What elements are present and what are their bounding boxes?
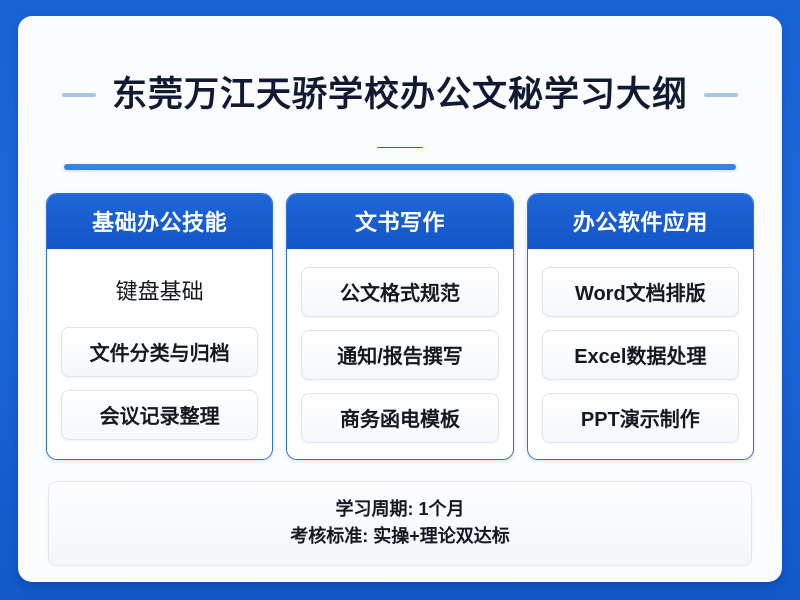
assessment-standard-text: 考核标准: 实操+理论双达标 <box>59 523 741 550</box>
column-item[interactable]: 公文格式规范 <box>301 267 498 317</box>
category-column-basic-office-skills: 基础办公技能 键盘基础 文件分类与归档 会议记录整理 <box>46 193 273 460</box>
poster-background: 东莞万江天骄学校办公文秘学习大纲 基础办公技能 键盘基础 文件分类与归档 会议记… <box>0 0 800 600</box>
page-title: 东莞万江天骄学校办公文秘学习大纲 <box>112 75 688 114</box>
title-left-dash-icon <box>62 93 96 97</box>
column-header: 基础办公技能 <box>47 194 272 249</box>
content-card: 东莞万江天骄学校办公文秘学习大纲 基础办公技能 键盘基础 文件分类与归档 会议记… <box>18 16 782 582</box>
summary-footer: 学习周期: 1个月 考核标准: 实操+理论双达标 <box>48 481 752 566</box>
column-item-list: Word文档排版 Excel数据处理 PPT演示制作 <box>528 249 753 459</box>
category-column-document-writing: 文书写作 公文格式规范 通知/报告撰写 商务函电模板 <box>286 193 513 460</box>
column-item[interactable]: 通知/报告撰写 <box>301 330 498 380</box>
column-header: 办公软件应用 <box>528 194 753 249</box>
category-column-office-software: 办公软件应用 Word文档排版 Excel数据处理 PPT演示制作 <box>527 193 754 460</box>
column-item[interactable]: PPT演示制作 <box>542 393 739 443</box>
column-header: 文书写作 <box>287 194 512 249</box>
column-item-list: 公文格式规范 通知/报告撰写 商务函电模板 <box>287 249 512 459</box>
column-item-list: 键盘基础 文件分类与归档 会议记录整理 <box>47 249 272 459</box>
study-period-text: 学习周期: 1个月 <box>59 496 741 523</box>
column-item[interactable]: Excel数据处理 <box>542 330 739 380</box>
title-right-dash-icon <box>704 93 738 97</box>
title-underline-icon <box>377 147 423 148</box>
highlight-banner <box>64 164 736 170</box>
column-item[interactable]: 键盘基础 <box>61 267 258 314</box>
column-item[interactable]: 商务函电模板 <box>301 393 498 443</box>
column-item[interactable]: 会议记录整理 <box>61 390 258 440</box>
category-columns: 基础办公技能 键盘基础 文件分类与归档 会议记录整理 文书写作 公文格式规范 通… <box>44 193 756 460</box>
column-item[interactable]: 文件分类与归档 <box>61 327 258 377</box>
column-item[interactable]: Word文档排版 <box>542 267 739 317</box>
title-row: 东莞万江天骄学校办公文秘学习大纲 <box>44 52 756 138</box>
